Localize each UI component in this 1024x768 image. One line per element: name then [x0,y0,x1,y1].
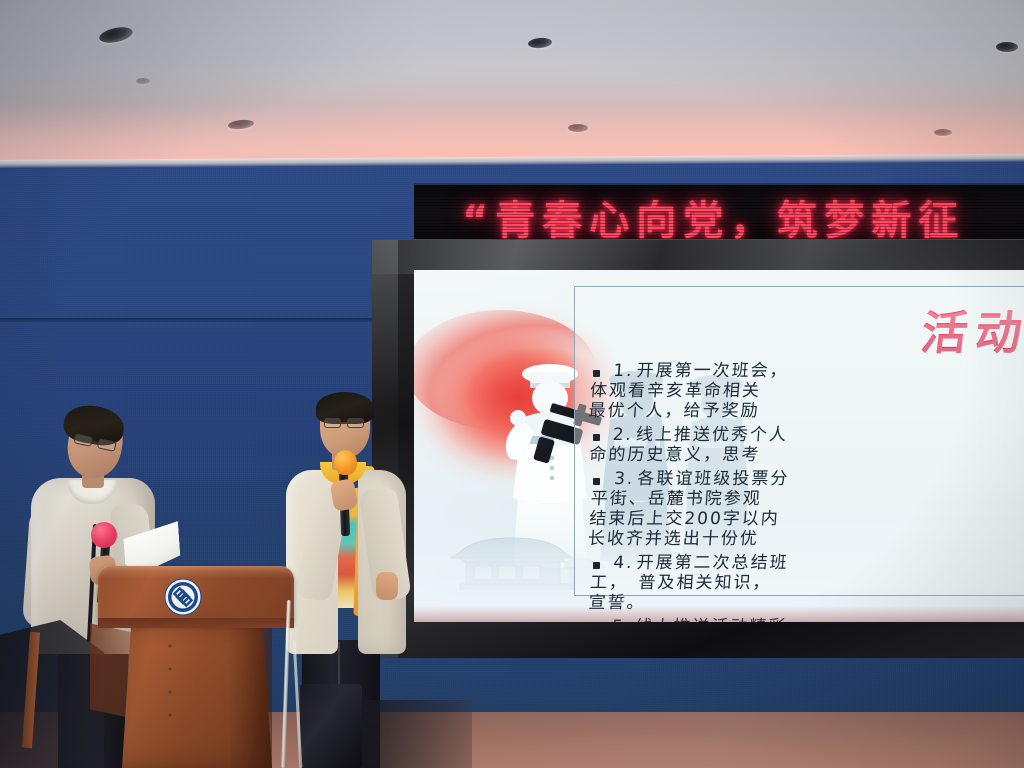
ceiling-downlight-icon [228,119,255,131]
stage-clutter [0,620,104,768]
list-item: 4.开展第二次总结班 工， 普及相关知识， 宣誓。 [593,553,1024,613]
university-crest-icon [164,578,202,616]
stage-speaker-box [300,684,362,768]
wall-panel-seam [0,320,404,322]
hand-holding-microphone [330,478,359,512]
ceiling-downlight-icon [934,129,952,136]
podium-top-edge [98,618,294,628]
bullet-text: 2.线上推送优秀个人 命的历史意义，思考 [611,425,789,465]
bullet-dot-icon [593,370,600,377]
slide-bullet-list: 1.开展第一次班会， 体观看辛亥革命相关 最优个人，给予奖励 2.线上推送优秀个… [593,361,1024,622]
led-banner-text: “青春心向党，筑梦新征 [462,188,965,239]
list-item: 2.线上推送优秀个人 命的历史意义，思考 [593,425,1024,465]
bullet-text: 1.开展第一次班会， 体观看辛亥革命相关 最优个人，给予奖励 [610,361,789,421]
microphone-icon [334,450,357,475]
slide-title: 活动 [918,297,1024,363]
bullet-dot-icon [593,562,600,569]
ceiling [0,0,1024,166]
bullet-text: 3.各联谊班级投票分 平街、岳麓书院参观 结束后上交200字以内 长收齐并选出十… [609,469,790,549]
podium-vertical-text: • • • • [162,640,178,756]
slide-content-box: 活动 1.开展第一次班会， 体观看辛亥革命相关 最优个人，给予奖励 2.线上推送… [574,286,1024,596]
bullet-text: 4.开展第二次总结班 工， 普及相关知识， 宣誓。 [610,553,789,613]
gesturing-hand [376,572,398,600]
bullet-dot-icon [593,434,600,441]
list-item: 3.各联谊班级投票分 平街、岳麓书院参观 结束后上交200字以内 长收齐并选出十… [593,469,1024,549]
stage-shadow [352,700,472,768]
ceiling-shadow [0,0,420,166]
microphone-icon [91,522,117,548]
podium: • • • • [98,566,294,768]
glasses-icon [324,418,368,428]
bezel-highlight [372,240,1024,274]
list-item: 1.开展第一次班会， 体观看辛亥革命相关 最优个人，给予奖励 [593,361,1024,421]
podium-front-panel [98,566,294,624]
bullet-dot-icon [593,478,600,485]
screen-bottom-shadow [414,606,1024,622]
photo-scene: “青春心向党，筑梦新征 [0,0,1024,768]
podium-shading [226,626,272,768]
ceiling-downlight-icon [528,37,553,49]
led-banner: “青春心向党，筑梦新征 [414,183,1024,239]
ceiling-downlight-icon [996,42,1018,52]
presentation-slide: 活动 1.开展第一次班会， 体观看辛亥革命相关 最优个人，给予奖励 2.线上推送… [414,270,1024,622]
ceiling-downlight-icon [136,78,150,84]
ceiling-downlight-icon [568,124,588,132]
